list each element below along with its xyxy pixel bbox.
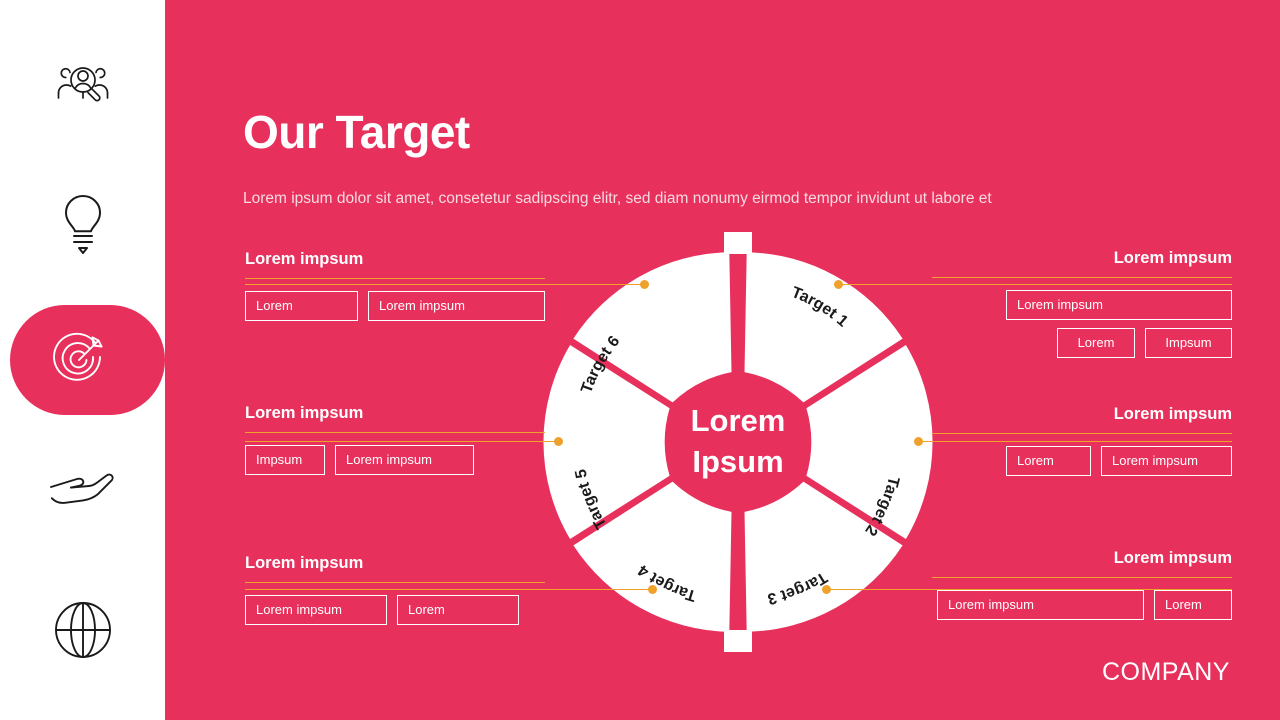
sidebar-item-target[interactable]: [10, 305, 165, 415]
callout-rule: [932, 433, 1232, 434]
callout-heading: Lorem impsum: [245, 554, 545, 573]
callout-box[interactable]: Lorem impsum: [1006, 290, 1232, 320]
callout-left-1: Lorem impsum Lorem Lorem impsum: [245, 250, 545, 321]
user-search-icon: [52, 60, 114, 110]
connector-line-left-3: [245, 589, 653, 590]
sidebar-item-support[interactable]: [0, 435, 165, 545]
callout-box[interactable]: Lorem impsum: [937, 590, 1144, 620]
callout-right-3: Lorem impsum Lorem impsum Lorem: [932, 549, 1232, 620]
callout-boxes: Lorem impsum Lorem: [932, 590, 1232, 620]
slide-canvas: Our Target Lorem ipsum dolor sit amet, c…: [0, 0, 1280, 720]
open-hand-icon: [47, 468, 119, 512]
connector-line-right-1: [838, 284, 1232, 285]
connector-dot-right-2: [914, 437, 923, 446]
callout-boxes: Impsum Lorem impsum: [245, 445, 545, 475]
callout-box[interactable]: Lorem: [397, 595, 519, 625]
sidebar-item-global[interactable]: [0, 575, 165, 685]
callout-box[interactable]: Lorem impsum: [245, 595, 387, 625]
callout-box[interactable]: Impsum: [245, 445, 325, 475]
callout-boxes: Lorem Lorem impsum: [932, 446, 1232, 476]
callout-boxes-row-2: Lorem Impsum: [932, 328, 1232, 358]
connector-dot-left-1: [640, 280, 649, 289]
connector-line-right-2: [918, 441, 1232, 442]
connector-line-left-2: [245, 441, 560, 442]
page-subtitle: Lorem ipsum dolor sit amet, consetetur s…: [243, 190, 992, 208]
callout-left-2: Lorem impsum Impsum Lorem impsum: [245, 404, 545, 475]
callout-box[interactable]: Lorem impsum: [368, 291, 545, 321]
callout-right-1: Lorem impsum Lorem impsum Lorem Impsum: [932, 249, 1232, 358]
callout-heading: Lorem impsum: [932, 549, 1232, 568]
callout-heading: Lorem impsum: [245, 250, 545, 269]
callout-box[interactable]: Lorem: [1057, 328, 1135, 358]
page-title: Our Target: [243, 105, 470, 159]
sidebar-item-idea[interactable]: [0, 170, 165, 280]
callout-heading: Lorem impsum: [245, 404, 545, 423]
callout-box[interactable]: Lorem: [1006, 446, 1091, 476]
target-arrow-icon: [48, 329, 110, 391]
callout-box[interactable]: Lorem impsum: [335, 445, 474, 475]
globe-icon: [52, 599, 114, 661]
callout-heading: Lorem impsum: [932, 249, 1232, 268]
footer-brand: COMPANY: [1102, 658, 1230, 687]
callout-box[interactable]: Impsum: [1145, 328, 1232, 358]
callout-boxes-row-1: Lorem impsum: [932, 290, 1232, 320]
callout-boxes: Lorem impsum Lorem: [245, 595, 545, 625]
connector-dot-left-2: [554, 437, 563, 446]
sidebar-item-user-search[interactable]: [0, 30, 165, 140]
connector-dot-left-3: [648, 585, 657, 594]
callout-rule: [245, 432, 545, 433]
donut-segments: [543, 252, 932, 632]
callout-box[interactable]: Lorem impsum: [1101, 446, 1232, 476]
callout-boxes: Lorem Lorem impsum: [245, 291, 545, 321]
connector-dot-right-1: [834, 280, 843, 289]
callout-heading: Lorem impsum: [932, 405, 1232, 424]
callout-rule: [245, 278, 545, 279]
connector-line-left-1: [245, 284, 645, 285]
callout-rule: [932, 277, 1232, 278]
connector-line-right-3: [826, 589, 1232, 590]
callout-box[interactable]: Lorem: [245, 291, 358, 321]
callout-rule: [932, 577, 1232, 578]
sidebar: [0, 0, 165, 720]
lightbulb-icon: [57, 192, 109, 258]
connector-dot-right-3: [822, 585, 831, 594]
callout-box[interactable]: Lorem: [1154, 590, 1232, 620]
callout-rule: [245, 582, 545, 583]
